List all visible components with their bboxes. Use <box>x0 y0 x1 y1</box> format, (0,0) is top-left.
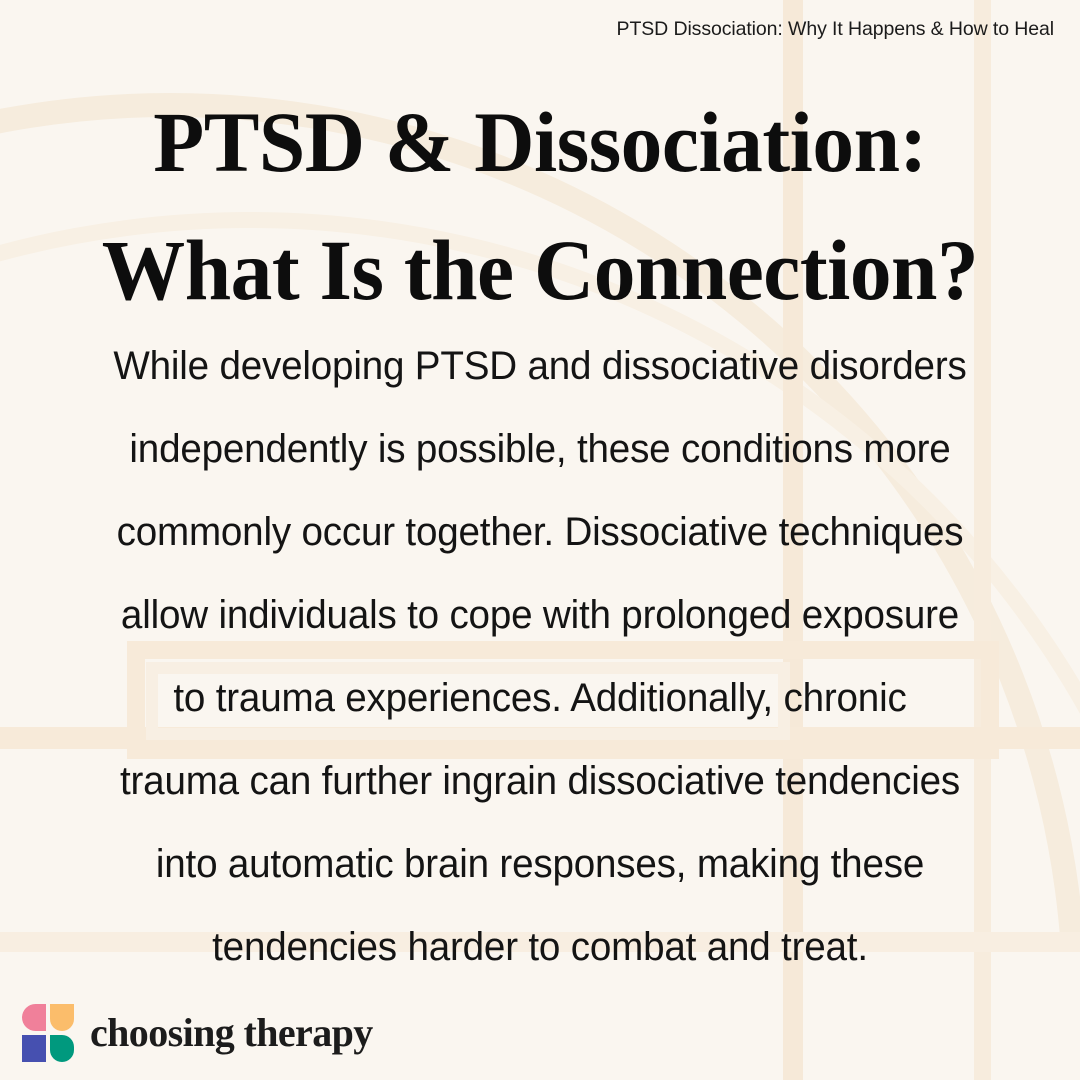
body-line-5: to trauma experiences. Additionally, chr… <box>19 657 1061 740</box>
body-line-2: independently is possible, these conditi… <box>19 408 1061 491</box>
body-paragraph: While developing PTSD and dissociative d… <box>0 325 1080 989</box>
page-title: PTSD & Dissociation: What Is the Connect… <box>0 78 1080 334</box>
body-line-3: commonly occur together. Dissociative te… <box>19 491 1061 574</box>
logo-quadrant-top-left <box>22 1004 46 1031</box>
body-line-7: into automatic brain responses, making t… <box>19 823 1061 906</box>
body-line-8: tendencies harder to combat and treat. <box>19 906 1061 989</box>
page-title-line-2: What Is the Connection? <box>16 206 1064 334</box>
logo-quadrant-top-right <box>50 1004 74 1031</box>
logo-quadrant-bottom-right <box>50 1035 74 1062</box>
header-article-title: PTSD Dissociation: Why It Happens & How … <box>617 18 1054 41</box>
brand-footer: choosing therapy <box>22 1004 373 1062</box>
infographic-canvas: PTSD Dissociation: Why It Happens & How … <box>0 0 1080 1080</box>
logo-quadrant-bottom-left <box>22 1035 46 1062</box>
body-line-6: trauma can further ingrain dissociative … <box>19 740 1061 823</box>
header-bar: PTSD Dissociation: Why It Happens & How … <box>0 0 1080 58</box>
body-line-4: allow individuals to cope with prolonged… <box>19 574 1061 657</box>
choosing-therapy-logo-icon <box>22 1004 74 1062</box>
brand-wordmark: choosing therapy <box>90 1013 373 1053</box>
page-title-line-1: PTSD & Dissociation: <box>16 78 1064 206</box>
body-line-1: While developing PTSD and dissociative d… <box>19 325 1061 408</box>
